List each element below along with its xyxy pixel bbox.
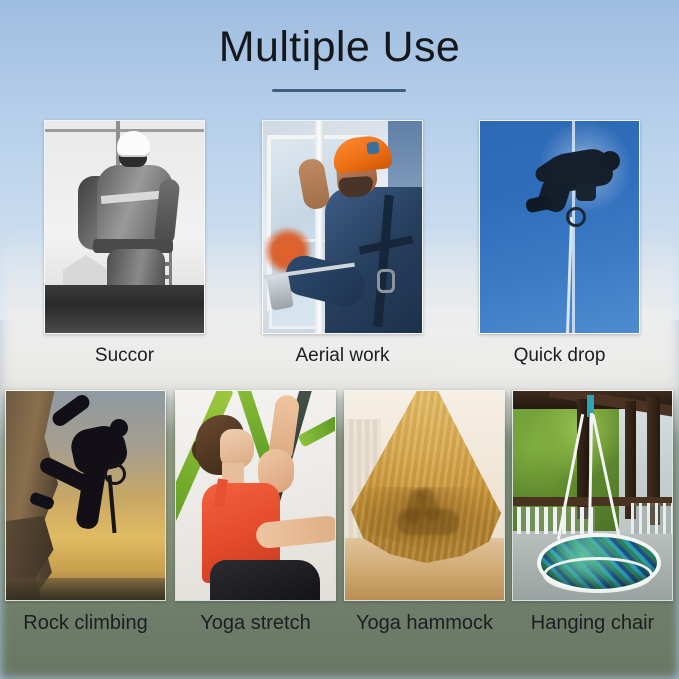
hanging-chair-image bbox=[513, 391, 672, 600]
page-title: Multiple Use bbox=[0, 22, 679, 73]
caption-yoga-hammock: Yoga hammock bbox=[344, 613, 505, 633]
tile-yoga-stretch[interactable] bbox=[175, 390, 336, 601]
tile-hanging-chair[interactable] bbox=[512, 390, 673, 601]
caption-succor: Succor bbox=[44, 346, 205, 365]
person-torso-silhouette bbox=[397, 509, 459, 535]
succor-image bbox=[45, 121, 204, 333]
caption-yoga-stretch: Yoga stretch bbox=[175, 613, 336, 633]
gear-pack bbox=[576, 183, 596, 201]
building bbox=[63, 255, 109, 289]
rock-climbing-image bbox=[6, 391, 165, 600]
caption-quick-drop: Quick drop bbox=[479, 346, 640, 365]
ledge bbox=[45, 285, 204, 333]
leggings bbox=[210, 560, 320, 600]
reaching-arm bbox=[50, 392, 93, 429]
boot bbox=[525, 194, 553, 213]
title-underline bbox=[272, 89, 406, 92]
tile-rock-climbing[interactable] bbox=[5, 390, 166, 601]
yoga-stretch-image bbox=[176, 391, 335, 600]
wall-line bbox=[45, 129, 204, 132]
tile-yoga-hammock[interactable] bbox=[344, 390, 505, 601]
tile-quick-drop[interactable] bbox=[479, 120, 640, 334]
caption-rock-climbing: Rock climbing bbox=[5, 613, 166, 633]
carabiner bbox=[377, 269, 395, 293]
head bbox=[600, 151, 620, 171]
multiple-use-infographic: Multiple Use bbox=[0, 0, 679, 679]
head bbox=[110, 419, 128, 437]
ground bbox=[6, 578, 165, 600]
rope-knot bbox=[566, 207, 586, 227]
nest-swing-rim bbox=[543, 557, 653, 593]
helmet-vent bbox=[366, 141, 379, 154]
jacket bbox=[325, 187, 422, 333]
helmet bbox=[117, 131, 150, 155]
yoga-hammock-image bbox=[345, 391, 504, 600]
quick-drop-image bbox=[480, 121, 639, 333]
tile-succor[interactable] bbox=[44, 120, 205, 334]
aerial-work-image bbox=[263, 121, 422, 333]
caption-hanging-chair: Hanging chair bbox=[512, 613, 673, 633]
tile-aerial-work[interactable] bbox=[262, 120, 423, 334]
caption-aerial-work: Aerial work bbox=[262, 346, 423, 365]
